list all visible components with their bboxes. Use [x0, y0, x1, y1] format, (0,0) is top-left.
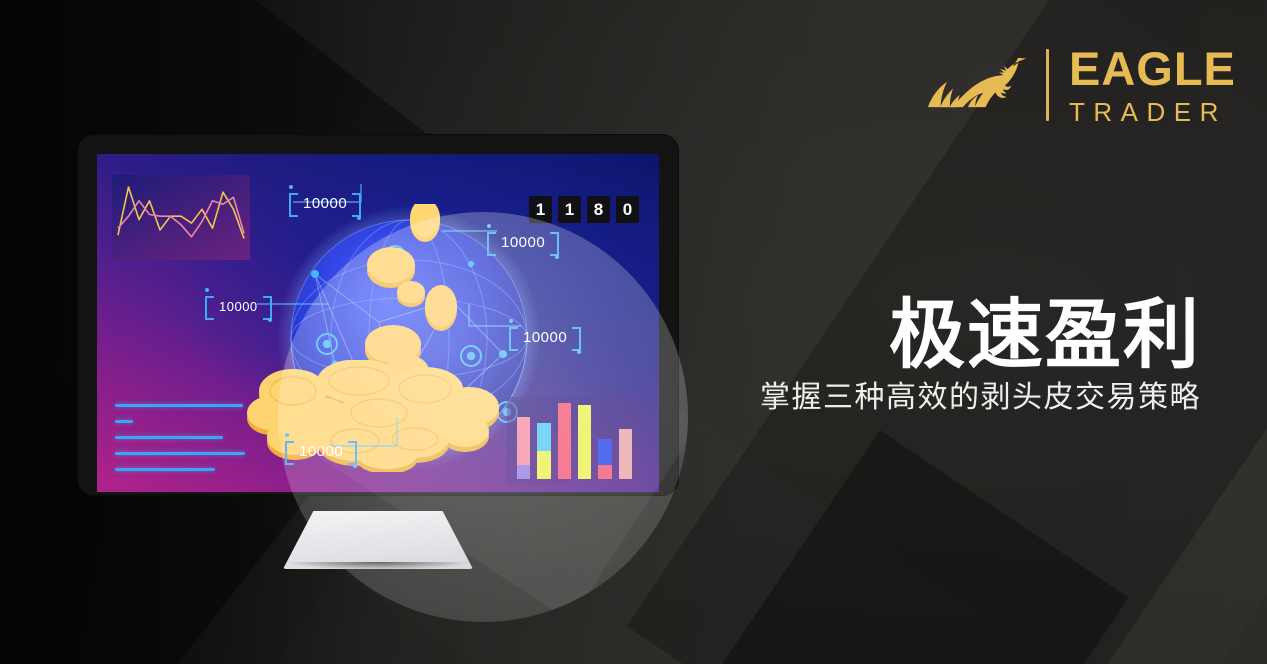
monitor-stand-shadow	[283, 562, 473, 570]
brand-logo: EAGLE TRADER	[926, 45, 1236, 125]
bracket-right-icon	[352, 191, 361, 215]
page-title: 极速盈利	[889, 273, 1201, 383]
value-tag: 10000	[289, 190, 361, 216]
bracket-left-icon	[487, 230, 496, 254]
monitor-screen: 10000 10000 10000 10000 10000	[97, 154, 659, 492]
counter-digit: 1	[558, 196, 581, 223]
logo-divider	[1046, 49, 1049, 121]
logo-trader-text: TRADER	[1069, 99, 1236, 125]
value-tag-text: 10000	[298, 195, 352, 212]
monitor-illustration: 10000 10000 10000 10000 10000	[78, 135, 678, 495]
bracket-left-icon	[205, 294, 214, 318]
value-tag-text: 10000	[214, 299, 263, 314]
value-tag: 10000	[285, 438, 357, 464]
bar-segment	[619, 429, 632, 479]
bracket-right-icon	[263, 294, 272, 318]
bracket-left-icon	[289, 191, 298, 215]
promotional-banner: EAGLE TRADER 极速盈利 掌握三种高效的剥头皮交易策略	[0, 0, 1267, 664]
bar-segment	[578, 405, 591, 479]
logo-eagle-text: EAGLE	[1069, 45, 1236, 92]
placeholder-rule	[115, 468, 215, 471]
monitor-stand	[283, 511, 473, 569]
placeholder-rule	[115, 420, 133, 423]
eagle-head-icon	[926, 53, 1032, 117]
counter-display: 1 1 8 0	[529, 196, 639, 223]
page-subtitle: 掌握三种高效的剥头皮交易策略	[760, 372, 1201, 416]
bar-segment	[558, 403, 571, 479]
placeholder-rules	[115, 404, 275, 484]
bar-chart-bar	[517, 417, 530, 479]
value-tag-text: 10000	[518, 329, 572, 346]
value-tag: 10000	[205, 293, 272, 319]
bar-segment	[598, 439, 611, 465]
value-tag-text: 10000	[496, 234, 550, 251]
placeholder-rule	[115, 404, 243, 407]
bracket-right-icon	[572, 325, 581, 349]
bar-chart-panel	[507, 397, 642, 485]
bar-segment	[517, 465, 530, 479]
counter-digit: 0	[616, 196, 639, 223]
bar-chart-bar	[598, 439, 611, 479]
bracket-right-icon	[550, 230, 559, 254]
bar-chart-bar	[537, 423, 550, 479]
bracket-right-icon	[348, 439, 357, 463]
value-tag: 10000	[509, 324, 581, 350]
value-tag-text: 10000	[294, 443, 348, 460]
placeholder-rule	[115, 452, 245, 455]
bar-chart-bar	[619, 429, 632, 479]
bar-segment	[537, 451, 550, 479]
line-chart-svg	[112, 175, 250, 260]
bar-segment	[537, 423, 550, 451]
bar-segment	[598, 465, 611, 479]
value-tag: 10000	[487, 229, 559, 255]
bracket-left-icon	[509, 325, 518, 349]
bracket-left-icon	[285, 439, 294, 463]
line-chart-panel	[112, 175, 250, 260]
placeholder-rule	[115, 436, 223, 439]
logo-wordmark: EAGLE TRADER	[1069, 45, 1236, 125]
counter-digit: 1	[529, 196, 552, 223]
bar-segment	[517, 417, 530, 465]
bar-chart-bar	[578, 405, 591, 479]
bar-chart-bar	[558, 403, 571, 479]
counter-digit: 8	[587, 196, 610, 223]
